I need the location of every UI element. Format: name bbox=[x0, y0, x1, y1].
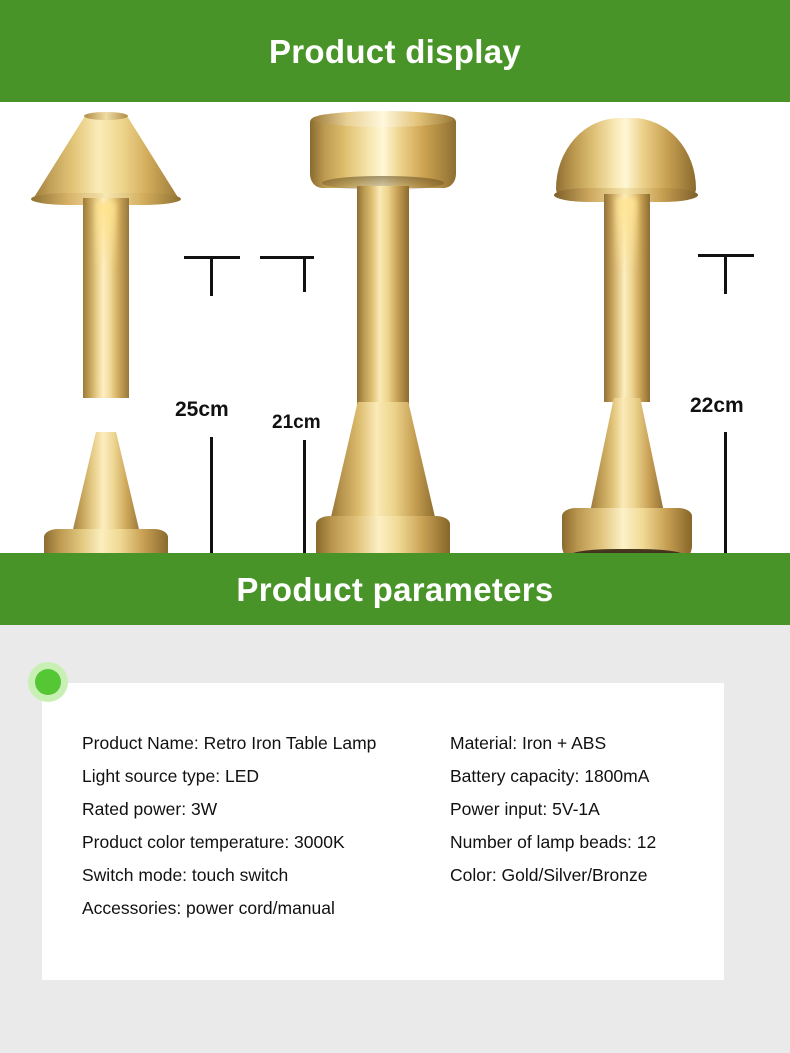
lamp-neck-flare bbox=[588, 398, 666, 522]
parameters-right-column: Material: Iron + ABS Battery capacity: 1… bbox=[450, 735, 740, 900]
dim-height-line-lower-3 bbox=[724, 432, 727, 564]
parameter-row: Battery capacity: 1800mA bbox=[450, 768, 740, 786]
lamp-cone-shade bbox=[33, 115, 179, 199]
lamp-light-glow bbox=[96, 202, 116, 272]
product-display-panel: 25cm 10cm 21cm bbox=[0, 102, 790, 553]
product-figure-cone-shade-lamp: 25cm 10cm bbox=[0, 102, 265, 553]
parameter-row: Color: Gold/Silver/Bronze bbox=[450, 867, 740, 885]
section-banner-product-display: Product display bbox=[0, 0, 790, 102]
parameter-row: Rated power: 3W bbox=[82, 801, 422, 819]
product-parameters-title: Product parameters bbox=[236, 573, 553, 606]
parameter-row: Product color temperature: 3000K bbox=[82, 834, 422, 852]
product-figure-disc-top-lamp: 21cm 9cm bbox=[250, 102, 520, 553]
parameter-row: Material: Iron + ABS bbox=[450, 735, 740, 753]
dim-height-line-lower-2 bbox=[303, 440, 306, 570]
parameter-row: Switch mode: touch switch bbox=[82, 867, 422, 885]
parameter-row: Accessories: power cord/manual bbox=[82, 900, 422, 918]
dim-height-label-2: 21cm bbox=[272, 413, 321, 432]
dim-height-label-1: 25cm bbox=[175, 399, 229, 420]
parameter-row: Power input: 5V-1A bbox=[450, 801, 740, 819]
parameter-row: Product Name: Retro Iron Table Lamp bbox=[82, 735, 422, 753]
section-banner-product-parameters: Product parameters bbox=[0, 553, 790, 625]
lamp-stem bbox=[357, 186, 409, 408]
lamp-disc-top-face bbox=[312, 111, 454, 127]
parameters-left-column: Product Name: Retro Iron Table Lamp Ligh… bbox=[82, 735, 422, 933]
lamp-light-glow bbox=[616, 198, 637, 272]
dim-height-line-upper-2 bbox=[303, 256, 306, 292]
lamp-neck-flare bbox=[328, 402, 438, 530]
product-display-title: Product display bbox=[269, 35, 521, 68]
green-dot-core bbox=[35, 669, 61, 695]
dim-height-line-upper-1 bbox=[210, 256, 213, 296]
dim-height-line-upper-3 bbox=[724, 254, 727, 294]
parameters-card: Product Name: Retro Iron Table Lamp Ligh… bbox=[42, 683, 724, 980]
lamp-dome-shade bbox=[556, 118, 696, 196]
parameters-columns: Product Name: Retro Iron Table Lamp Ligh… bbox=[42, 683, 724, 980]
lamp-images-row: 25cm 10cm 21cm bbox=[0, 102, 790, 553]
parameter-row: Number of lamp beads: 12 bbox=[450, 834, 740, 852]
product-detail-page: Product display 25cm bbox=[0, 0, 790, 1053]
dim-height-label-3: 22cm bbox=[690, 395, 744, 416]
product-figure-dome-shade-lamp: 22cm 10cm bbox=[520, 102, 790, 553]
lamp-shade-top-cap bbox=[84, 112, 128, 120]
parameter-row: Light source type: LED bbox=[82, 768, 422, 786]
lamp-neck-flare bbox=[70, 432, 142, 542]
green-accent-dot bbox=[28, 662, 68, 702]
